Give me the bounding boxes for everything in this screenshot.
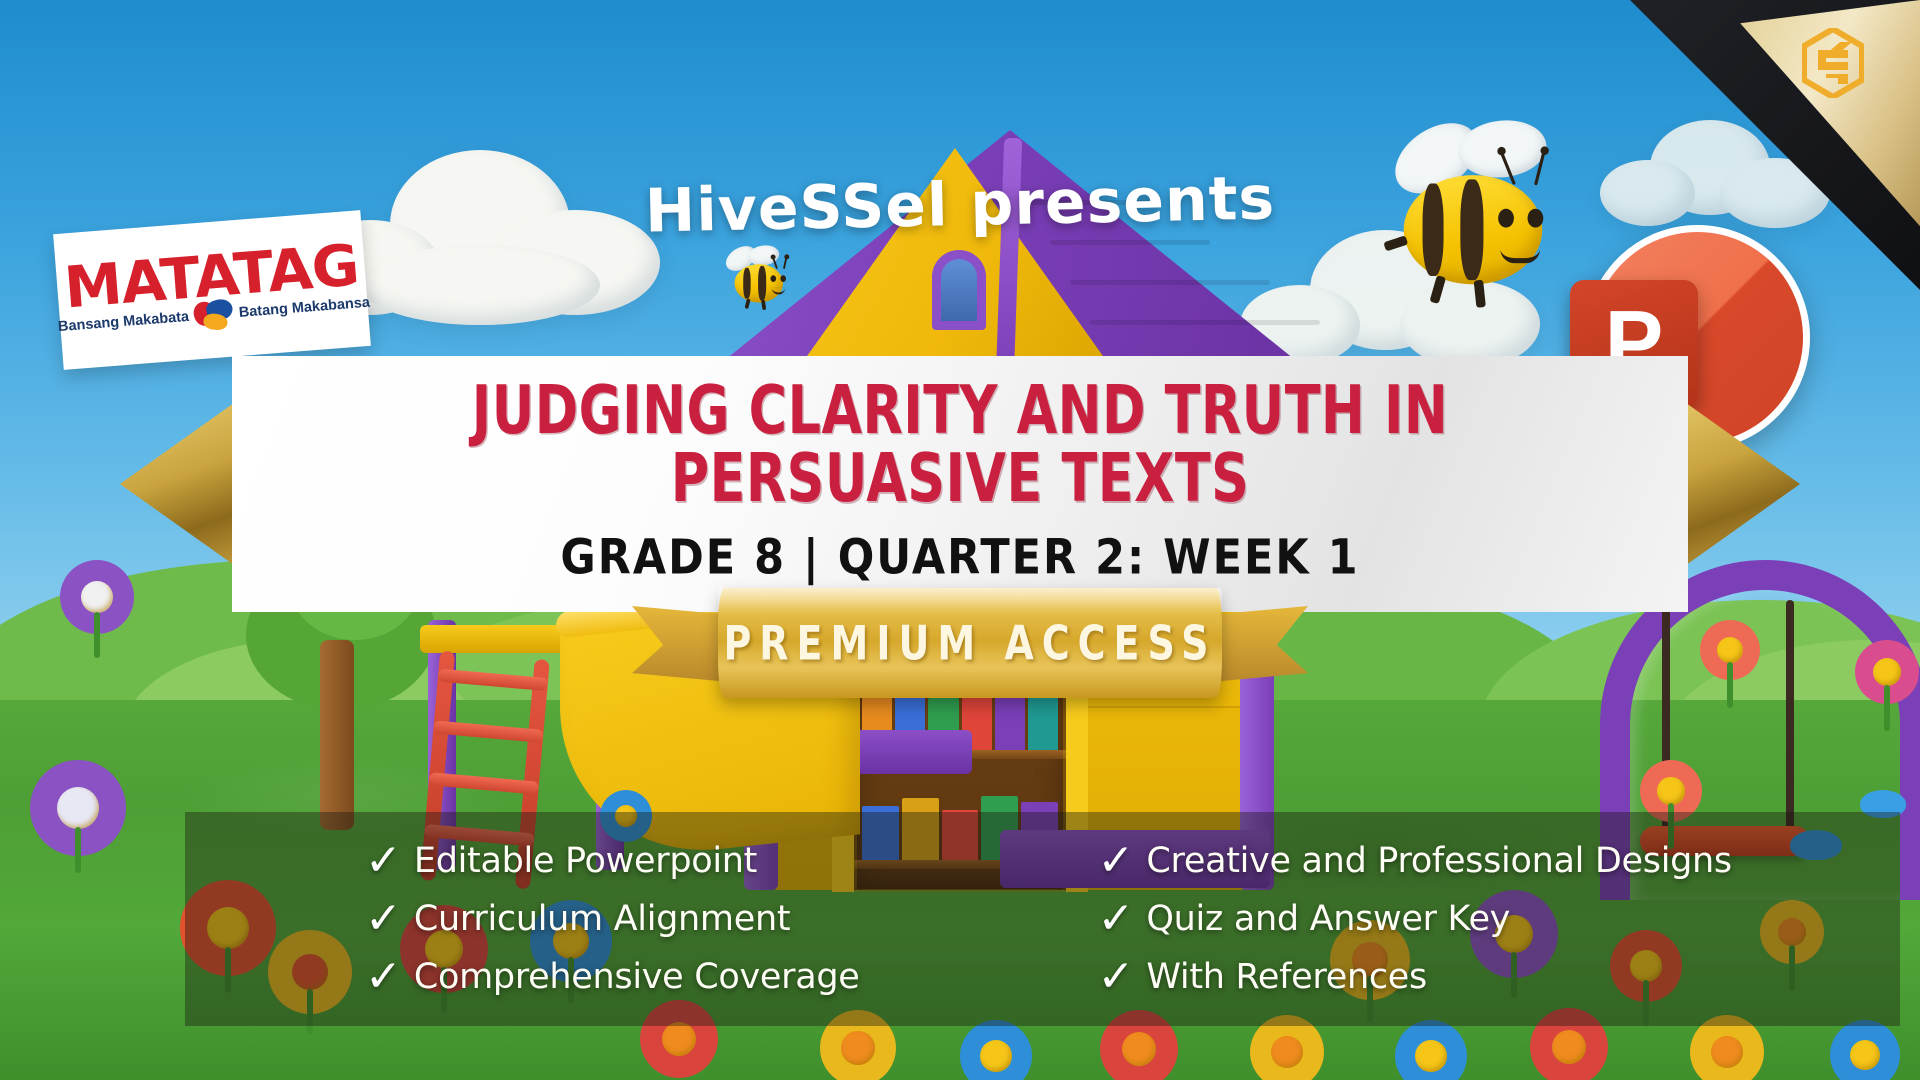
bee-icon xyxy=(721,248,789,313)
clasped-hands-icon xyxy=(193,299,235,332)
flower-icon xyxy=(1855,640,1919,704)
hexagon-hive-logo xyxy=(1802,28,1864,98)
page-title: JUDGING CLARITY AND TRUTH IN PERSUASIVE … xyxy=(397,376,1522,513)
check-icon: ✓ xyxy=(365,839,402,883)
flower-icon xyxy=(1395,1020,1467,1080)
features-column-right: ✓ Creative and Professional Designs ✓ Qu… xyxy=(1043,812,1901,1026)
check-icon: ✓ xyxy=(1098,955,1135,999)
feature-label: Curriculum Alignment xyxy=(414,899,790,939)
swing-rope xyxy=(1786,600,1794,832)
flower-icon xyxy=(1830,1020,1900,1080)
poster-canvas: HiveSSel presents MATATAG Bansang Makaba… xyxy=(0,0,1920,1080)
flower-icon xyxy=(960,1020,1032,1080)
list-item: ✓ Creative and Professional Designs xyxy=(1098,839,1901,883)
feature-label: With References xyxy=(1146,957,1427,997)
flower-icon xyxy=(1700,620,1760,680)
tree-trunk xyxy=(320,640,354,830)
check-icon: ✓ xyxy=(365,897,402,941)
list-item: ✓ Quiz and Answer Key xyxy=(1098,897,1901,941)
list-item: ✓ Comprehensive Coverage xyxy=(365,955,1043,999)
list-item: ✓ Curriculum Alignment xyxy=(365,897,1043,941)
check-icon: ✓ xyxy=(1098,839,1135,883)
feature-label: Editable Powerpoint xyxy=(414,841,757,881)
check-icon: ✓ xyxy=(1098,897,1135,941)
flower-icon xyxy=(30,760,126,856)
attic-window xyxy=(932,250,986,330)
premium-ribbon: PREMIUM ACCESS xyxy=(640,588,1300,708)
features-column-left: ✓ Editable Powerpoint ✓ Curriculum Align… xyxy=(185,812,1043,1026)
feature-label: Comprehensive Coverage xyxy=(414,957,860,997)
premium-badge-label: PREMIUM ACCESS xyxy=(640,574,1300,712)
check-icon: ✓ xyxy=(365,955,402,999)
features-overlay: ✓ Editable Powerpoint ✓ Curriculum Align… xyxy=(185,812,1900,1026)
feature-label: Quiz and Answer Key xyxy=(1146,899,1510,939)
list-item: ✓ With References xyxy=(1098,955,1901,999)
feature-label: Creative and Professional Designs xyxy=(1146,841,1731,881)
list-item: ✓ Editable Powerpoint xyxy=(365,839,1043,883)
